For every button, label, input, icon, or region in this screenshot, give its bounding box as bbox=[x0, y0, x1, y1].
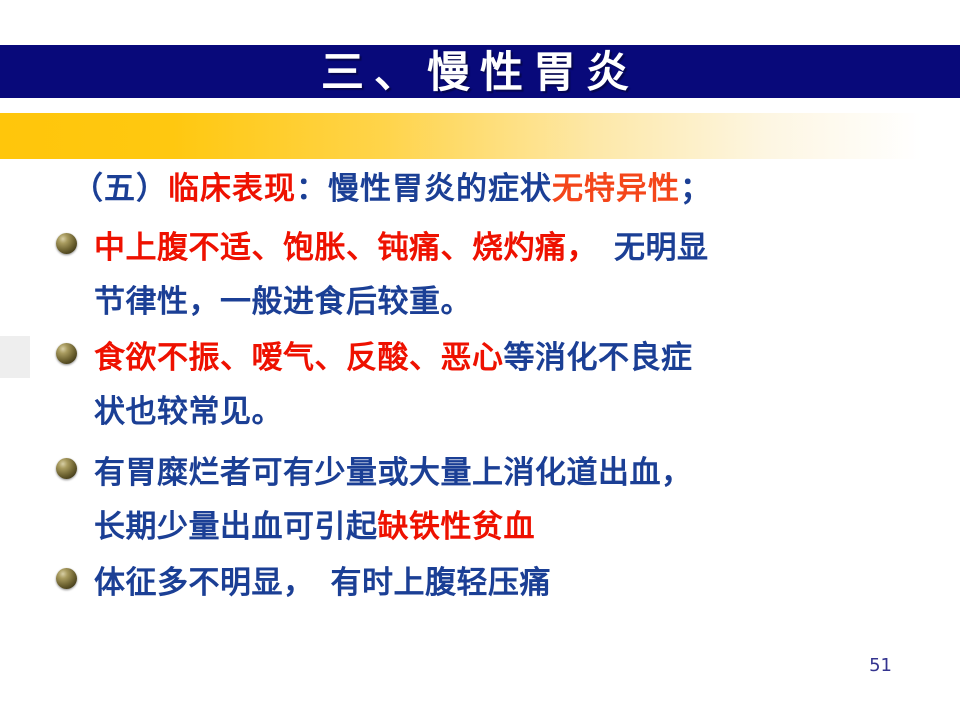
bullet-text: 食欲不振、嗳气、反酸、恶心等消化不良症状也较常见。 bbox=[94, 331, 946, 439]
bullet-text: 中上腹不适、饱胀、钝痛、烧灼痛， 无明显节律性，一般进食后较重。 bbox=[94, 221, 946, 329]
bullet-4: 体征多不明显， 有时上腹轻压痛 bbox=[56, 556, 946, 610]
text-run: 节律性，一般进食后较重。 bbox=[94, 284, 472, 320]
lead-line: （五）临床表现：慢性胃炎的症状无特异性； bbox=[72, 163, 712, 208]
text-run: 体征多不明显， 有时上腹轻压痛 bbox=[94, 565, 551, 601]
slide-body: （五）临床表现：慢性胃炎的症状无特异性； 中上腹不适、饱胀、钝痛、烧灼痛， 无明… bbox=[0, 159, 960, 659]
page-number: 51 bbox=[869, 655, 892, 676]
text-run: 中上腹不适、饱胀、钝痛、烧灼痛， bbox=[94, 230, 583, 266]
bullet-text: 有胃糜烂者可有少量或大量上消化道出血，长期少量出血可引起缺铁性贫血 bbox=[94, 446, 946, 554]
bullet-line: 状也较常见。 bbox=[94, 385, 946, 439]
text-run: 长期少量出血可引起 bbox=[94, 509, 378, 545]
text-run: 食欲不振、嗳气、反酸、恶心 bbox=[94, 340, 504, 376]
bullet-line: 食欲不振、嗳气、反酸、恶心等消化不良症 bbox=[94, 331, 946, 385]
lead-marker: （五） bbox=[72, 171, 168, 207]
text-run: 状也较常见。 bbox=[94, 394, 283, 430]
bullet-line: 中上腹不适、饱胀、钝痛、烧灼痛， 无明显 bbox=[94, 221, 946, 275]
text-run: 无明显 bbox=[583, 230, 709, 266]
lead-colon: ： bbox=[296, 171, 328, 207]
lead-sentence: 慢性胃炎的症状 bbox=[328, 171, 552, 207]
bullet-1: 中上腹不适、饱胀、钝痛、烧灼痛， 无明显节律性，一般进食后较重。 bbox=[56, 221, 946, 329]
lead-label: 临床表现 bbox=[168, 171, 296, 207]
slide-title: 三、慢性胃炎 bbox=[0, 42, 960, 104]
bullet-2: 食欲不振、嗳气、反酸、恶心等消化不良症状也较常见。 bbox=[56, 331, 946, 439]
bullet-line: 节律性，一般进食后较重。 bbox=[94, 275, 946, 329]
lead-emphasis: 无特异性 bbox=[552, 171, 680, 207]
bullet-sphere-icon bbox=[56, 233, 77, 254]
text-run: 等消化不良症 bbox=[504, 340, 693, 376]
text-run: 有胃糜烂者可有少量或大量上消化道出血， bbox=[94, 455, 693, 491]
bullet-sphere-icon bbox=[56, 568, 77, 589]
bullet-line: 长期少量出血可引起缺铁性贫血 bbox=[94, 500, 946, 554]
bullet-text: 体征多不明显， 有时上腹轻压痛 bbox=[94, 556, 946, 610]
bullet-line: 体征多不明显， 有时上腹轻压痛 bbox=[94, 556, 946, 610]
lead-end: ； bbox=[680, 171, 712, 207]
slide-canvas: 三、慢性胃炎 （五）临床表现：慢性胃炎的症状无特异性； 中上腹不适、饱胀、钝痛、… bbox=[0, 0, 960, 720]
bullet-3: 有胃糜烂者可有少量或大量上消化道出血，长期少量出血可引起缺铁性贫血 bbox=[56, 446, 946, 554]
gold-accent-band bbox=[0, 113, 960, 159]
bullet-sphere-icon bbox=[56, 343, 77, 364]
bullet-line: 有胃糜烂者可有少量或大量上消化道出血， bbox=[94, 446, 946, 500]
bullet-sphere-icon bbox=[56, 458, 77, 479]
text-run: 缺铁性贫血 bbox=[378, 509, 536, 545]
